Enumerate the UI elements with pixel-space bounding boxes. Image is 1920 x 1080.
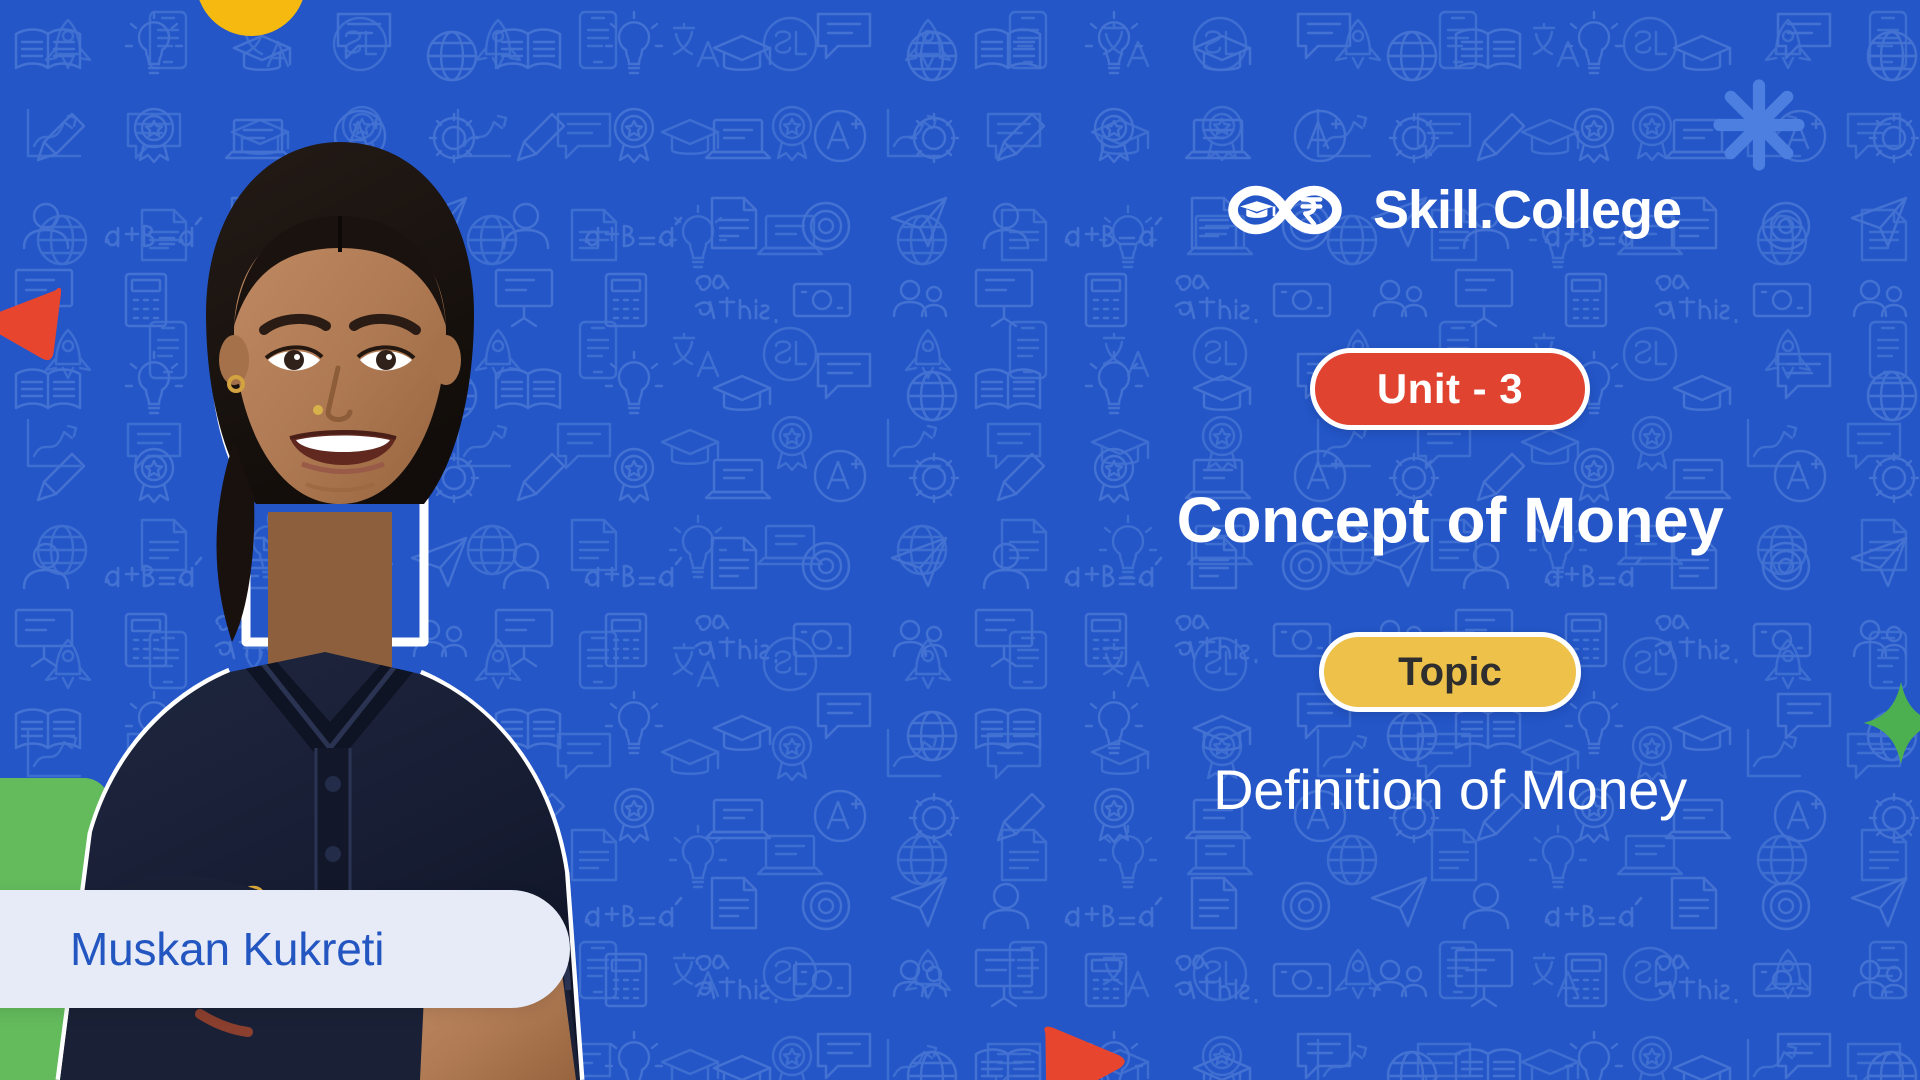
brand-wordmark: Skill.College xyxy=(1373,183,1681,237)
infinity-graduation-rupee-icon xyxy=(1219,178,1351,242)
lesson-title: Concept of Money xyxy=(1177,484,1724,558)
topic-subtitle: Definition of Money xyxy=(1213,758,1687,822)
instructor-name-plate: Muskan Kukreti xyxy=(0,890,570,1008)
lesson-title-slide: Skill.College Unit - 3 Concept of Money … xyxy=(0,0,1920,1080)
topic-badge[interactable]: Topic xyxy=(1319,632,1581,712)
yellow-circle-decoration xyxy=(196,0,306,36)
unit-badge[interactable]: Unit - 3 xyxy=(1310,348,1590,430)
instructor-name: Muskan Kukreti xyxy=(70,922,384,976)
slide-content-column: Skill.College Unit - 3 Concept of Money … xyxy=(980,0,1920,1080)
brand-logo[interactable]: Skill.College xyxy=(1219,178,1681,242)
